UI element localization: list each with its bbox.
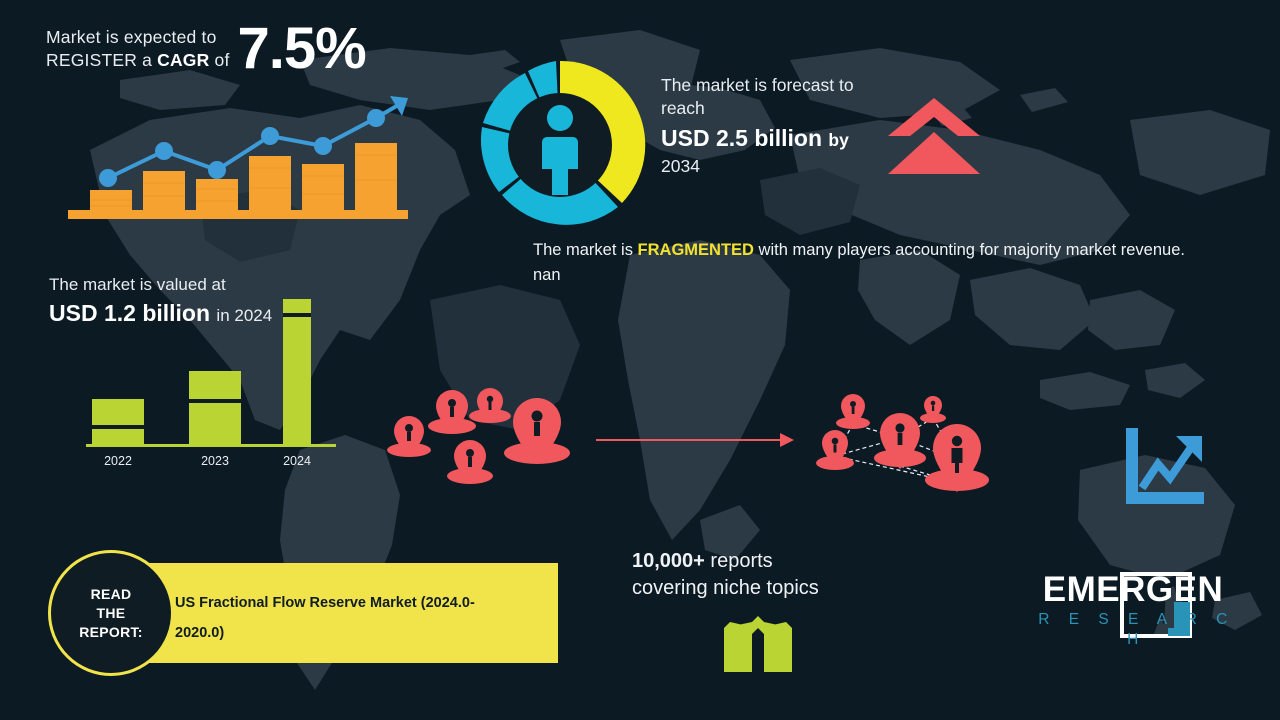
connected-network-icon <box>805 388 1020 503</box>
transition-arrow-icon <box>596 430 796 450</box>
bar-2023 <box>189 371 241 445</box>
cagr-lead-line2-post: of <box>209 50 229 70</box>
read-report-line2: THE <box>97 605 126 621</box>
cagr-lead-bold: CAGR <box>157 50 209 70</box>
forecast-value: USD 2.5 billion <box>661 125 822 151</box>
emergen-logo-block: EMERGEN R E S E A R C H <box>1018 570 1248 650</box>
bar-2024 <box>283 299 311 445</box>
reports-count-line1: 10,000+ reports <box>632 548 819 575</box>
fragmented-pre: The market is <box>533 241 638 259</box>
reports-count-number: 10,000+ <box>632 550 705 572</box>
bar-label-2023: 2023 <box>183 454 247 468</box>
cagr-lead-text: Market is expected to REGISTER a CAGR of <box>46 22 230 72</box>
line-chart-arrow-icon <box>1124 428 1206 508</box>
cagr-lead-line1: Market is expected to <box>46 27 217 47</box>
cagr-lead-line2-pre: REGISTER a <box>46 50 157 70</box>
read-report-label: READ THE REPORT: <box>79 585 143 642</box>
forecast-block: The market is forecast to reach USD 2.5 … <box>661 74 901 177</box>
bar-2022 <box>92 399 144 445</box>
bar-label-2024: 2024 <box>265 454 329 468</box>
bar-label-2022: 2022 <box>86 454 150 468</box>
valued-lead: The market is valued at <box>49 274 272 296</box>
logo-subtitle: R E S E A R C H <box>1018 610 1248 650</box>
growth-bar-chart-icon <box>68 88 418 223</box>
bar-2023-notch <box>189 399 241 403</box>
read-report-circle[interactable]: READ THE REPORT: <box>48 550 174 676</box>
cagr-block: Market is expected to REGISTER a CAGR of… <box>46 22 366 76</box>
location-pin-cluster <box>385 388 575 493</box>
fragmented-statement: The market is FRAGMENTED with many playe… <box>533 238 1205 288</box>
bar-2024-notch <box>283 313 311 317</box>
fragmented-highlight: FRAGMENTED <box>638 241 754 259</box>
market-value-bar-chart: 2022 2023 2024 <box>86 296 336 471</box>
donut-chart-person-icon <box>470 55 650 235</box>
forecast-year: 2034 <box>661 155 901 177</box>
reports-count-block: 10,000+ reports covering niche topics <box>632 548 819 602</box>
bar-2022-notch <box>92 425 144 429</box>
infographic-canvas: Market is expected to REGISTER a CAGR of… <box>0 0 1280 720</box>
up-arrows-icon <box>886 96 982 176</box>
open-book-icon <box>722 614 794 676</box>
forecast-lead: The market is forecast to reach <box>661 74 901 120</box>
logo-wordmark: EMERGEN <box>1018 570 1248 610</box>
reports-count-word: reports <box>705 550 773 572</box>
forecast-value-row: USD 2.5 billion by <box>661 123 901 155</box>
read-report-line3: REPORT: <box>79 624 143 640</box>
report-title: US Fractional Flow Reserve Market (2024.… <box>175 588 515 648</box>
reports-count-line2: covering niche topics <box>632 575 819 602</box>
forecast-value-suffix: by <box>828 130 848 150</box>
cagr-value: 7.5% <box>238 22 366 76</box>
read-report-line1: READ <box>91 586 132 602</box>
